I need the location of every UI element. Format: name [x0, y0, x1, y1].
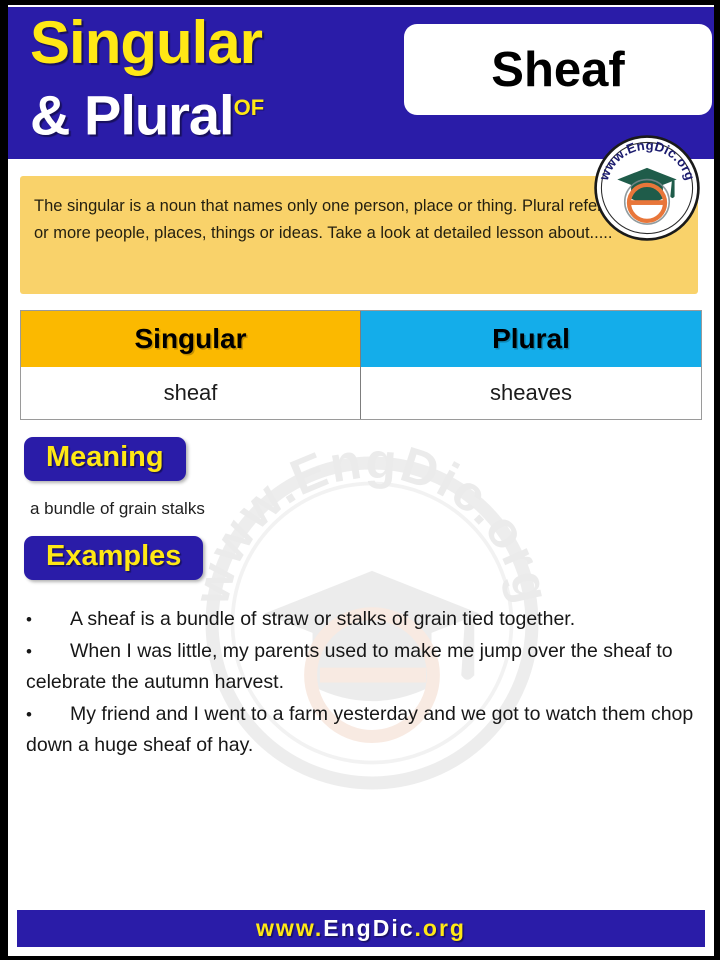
examples-badge-wrap: Examples [24, 536, 714, 580]
example-text: A sheaf is a bundle of straw or stalks o… [70, 608, 575, 630]
cell-singular-word: sheaf [21, 367, 361, 419]
word-title: Sheaf [491, 42, 624, 98]
title-line-singular: Singular [30, 9, 420, 77]
of-superscript: OF [234, 95, 265, 120]
example-text: My friend and I went to a farm yesterday… [26, 703, 693, 756]
example-text: When I was little, my parents used to ma… [26, 640, 673, 693]
title-line-plural: & PluralOF [30, 77, 420, 147]
title-plural-text: & Plural [30, 84, 234, 147]
bullet-icon: • [26, 636, 70, 667]
cell-plural-word: sheaves [361, 367, 701, 419]
examples-list: •A sheaf is a bundle of straw or stalks … [26, 604, 700, 761]
sheet: www.EngDic.org Singular & PluralOF Sheaf [8, 5, 714, 956]
table-header-singular: Singular [21, 311, 361, 367]
footer-suffix: .org [415, 915, 466, 942]
table-header-row: Singular Plural [21, 311, 701, 367]
list-item: •A sheaf is a bundle of straw or stalks … [26, 604, 700, 635]
footer-bar[interactable]: www.EngDic.org [17, 910, 705, 947]
bullet-icon: • [26, 699, 70, 730]
title-block: Singular & PluralOF [30, 9, 420, 147]
infographic-page: www.EngDic.org Singular & PluralOF Sheaf [0, 0, 720, 960]
list-item: •When I was little, my parents used to m… [26, 636, 700, 698]
word-title-box: Sheaf [404, 24, 712, 115]
engdic-logo-icon[interactable]: www.EngDic.org [594, 135, 700, 241]
meaning-badge-wrap: Meaning [24, 437, 714, 481]
footer-prefix: www. [256, 915, 323, 942]
list-item: •My friend and I went to a farm yesterda… [26, 699, 700, 761]
singular-plural-table: Singular Plural sheaf sheaves [20, 310, 702, 420]
meaning-text: a bundle of grain stalks [30, 499, 714, 519]
examples-badge: Examples [24, 536, 203, 580]
bullet-icon: • [26, 604, 70, 635]
meaning-badge: Meaning [24, 437, 186, 481]
footer-brand: EngDic [323, 915, 414, 942]
table-row: sheaf sheaves [21, 367, 701, 419]
table-header-plural: Plural [361, 311, 701, 367]
